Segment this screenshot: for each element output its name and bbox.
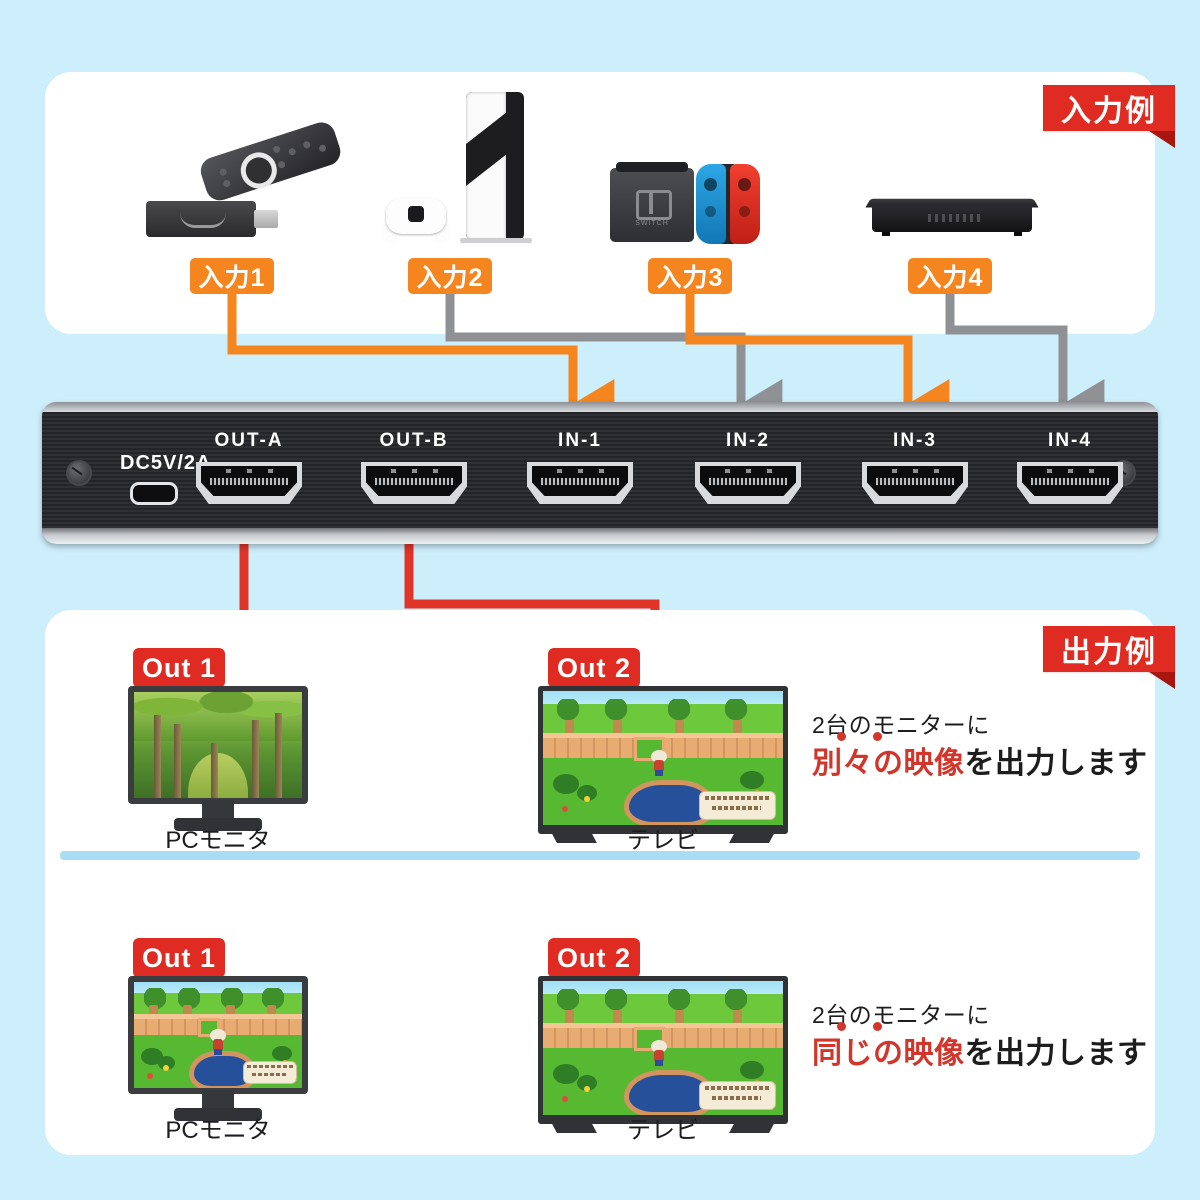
remote-button	[272, 145, 281, 154]
monitor-bezel	[128, 686, 308, 804]
villager-legs	[655, 770, 663, 776]
tree-trunk	[252, 720, 259, 798]
animal-crossing-game-image	[134, 982, 302, 1088]
controller-touchpad	[408, 206, 424, 222]
monitor-bezel	[128, 976, 308, 1094]
out2-badge-row1-label: Out 2	[557, 653, 631, 684]
game-flower	[163, 1065, 169, 1071]
caption-pc-monitor-row2: PCモニタ	[128, 1110, 308, 1145]
tv-screen	[543, 691, 783, 825]
emphasis-dot	[873, 1022, 882, 1031]
blu-ray-display	[928, 214, 984, 222]
remote-button	[219, 168, 228, 177]
input-ribbon-label: 入力例	[1061, 86, 1157, 130]
description-row2-line2: 同じの映像を出力します	[812, 1028, 1148, 1072]
tree-trunk	[154, 715, 161, 798]
emphasis-dot	[873, 732, 882, 741]
caption-television-row1: テレビ	[538, 820, 788, 855]
description-row2-highlight: 同じの映像	[812, 1037, 965, 1070]
out2-badge-row1: Out 2	[548, 648, 640, 688]
out1-badge-row2-label: Out 1	[142, 943, 216, 974]
emphasis-dot	[837, 732, 846, 741]
port-label-in-3: IN-3	[855, 430, 975, 452]
animal-crossing-game-image	[543, 691, 783, 825]
tree-trunk	[275, 713, 282, 798]
out2-badge-row2: Out 2	[548, 938, 640, 978]
device-nintendo-switch: SWITCH	[608, 160, 788, 250]
game-tip-popup	[699, 1081, 775, 1110]
ps5-console	[466, 92, 524, 240]
game-bush	[553, 1064, 579, 1084]
fire-tv-stick-body	[146, 201, 256, 237]
pc-monitor-row1	[128, 686, 308, 836]
port-label-in-4: IN-4	[1010, 430, 1130, 452]
joycon-left	[696, 164, 726, 244]
chassis-screw-left	[66, 460, 92, 486]
remote-button	[222, 179, 231, 188]
remote-button	[288, 147, 297, 156]
game-bush	[553, 774, 579, 794]
caption-pc-monitor-row1: PCモニタ	[128, 820, 308, 855]
port-label-in-1: IN-1	[520, 430, 640, 452]
emphasis-dot	[837, 1022, 846, 1031]
input-badge-4-label: 入力4	[917, 258, 984, 294]
blu-ray-foot	[1014, 232, 1022, 236]
blu-ray-front-panel	[872, 206, 1032, 232]
hdmi-port-in-2[interactable]	[695, 462, 801, 504]
description-row1-line2: 別々の映像を出力します	[812, 738, 1148, 782]
forest-wallpaper-image	[134, 692, 302, 798]
joycon-stick-icon	[704, 178, 717, 191]
pc-monitor-row2	[128, 976, 308, 1126]
joycon-right	[730, 164, 760, 244]
game-tip-popup	[243, 1061, 297, 1084]
tv-screen	[543, 981, 783, 1115]
remote-button	[302, 140, 311, 149]
out1-badge-row2: Out 1	[133, 938, 225, 978]
villager-legs	[655, 1060, 663, 1066]
output-ribbon-label: 出力例	[1061, 627, 1157, 671]
usb-c-power-port[interactable]	[130, 482, 178, 505]
ribbon-fold-icon	[1149, 672, 1175, 689]
joycon-stick-icon	[738, 178, 751, 191]
hdmi-port-in-3[interactable]	[862, 462, 968, 504]
animal-crossing-game-image	[543, 981, 783, 1115]
tv-bezel	[538, 976, 788, 1124]
input-badge-4: 入力4	[908, 258, 992, 294]
switch-logo-icon	[636, 190, 672, 220]
ribbon-fold-icon	[1149, 131, 1175, 148]
switch-dock: SWITCH	[610, 168, 694, 242]
game-villager-character	[651, 750, 667, 776]
input-badge-2: 入力2	[408, 258, 492, 294]
description-row2-tail: を出力します	[965, 1037, 1148, 1070]
amazon-smile-icon	[180, 213, 226, 228]
remote-dpad-icon	[236, 148, 281, 193]
ps5-stand	[460, 238, 532, 243]
tree-trunk	[211, 743, 218, 798]
port-label-out-a: OUT-A	[189, 430, 309, 452]
hdmi-port-in-1[interactable]	[527, 462, 633, 504]
game-villager-character	[651, 1040, 667, 1066]
game-flower	[584, 796, 590, 802]
switch-wordmark: SWITCH	[624, 220, 680, 228]
description-row1-highlight: 別々の映像	[812, 747, 965, 780]
joycon-buttons-icon	[739, 206, 750, 217]
tv-bezel	[538, 686, 788, 834]
game-tip-popup	[699, 791, 775, 820]
output-example-ribbon: 出力例	[1043, 626, 1175, 672]
description-row1-tail: を出力します	[965, 747, 1148, 780]
out1-badge-row1: Out 1	[133, 648, 225, 688]
input-badge-3: 入力3	[648, 258, 732, 294]
port-label-in-2: IN-2	[688, 430, 808, 452]
section-divider	[60, 851, 1140, 860]
hdmi-port-in-4[interactable]	[1017, 462, 1123, 504]
monitor-screen	[134, 982, 302, 1088]
port-label-out-b: OUT-B	[354, 430, 474, 452]
device-playstation-5	[378, 92, 558, 252]
game-villager-character	[210, 1029, 226, 1055]
villager-legs	[214, 1049, 222, 1055]
input-badge-3-label: 入力3	[657, 258, 724, 294]
monitor-screen	[134, 692, 302, 798]
out2-badge-row2-label: Out 2	[557, 943, 631, 974]
input-example-ribbon: 入力例	[1043, 85, 1175, 131]
out1-badge-row1-label: Out 1	[142, 653, 216, 684]
device-blu-ray-player	[868, 192, 1038, 242]
hdmi-port-out-a[interactable]	[196, 462, 302, 504]
hdmi-port-out-b[interactable]	[361, 462, 467, 504]
game-flower	[584, 1086, 590, 1092]
dualsense-controller	[378, 192, 454, 242]
blu-ray-foot	[882, 232, 890, 236]
input-badge-2-label: 入力2	[417, 258, 484, 294]
device-fire-tv-stick	[138, 155, 328, 250]
hdmi-matrix-switch-device: DC5V/2A OUT-A OUT-B IN-1 IN-2 IN-3 IN-4	[42, 402, 1158, 544]
input-badge-1: 入力1	[190, 258, 274, 294]
tree-trunk	[174, 724, 181, 798]
game-bush	[272, 1046, 292, 1061]
caption-television-row2: テレビ	[538, 1110, 788, 1145]
input-badge-1-label: 入力1	[199, 258, 266, 294]
joycon-dpad-icon	[705, 206, 716, 217]
diagram-stage: 入力例	[0, 0, 1200, 1200]
remote-button	[318, 144, 327, 153]
remote-button	[277, 160, 286, 169]
